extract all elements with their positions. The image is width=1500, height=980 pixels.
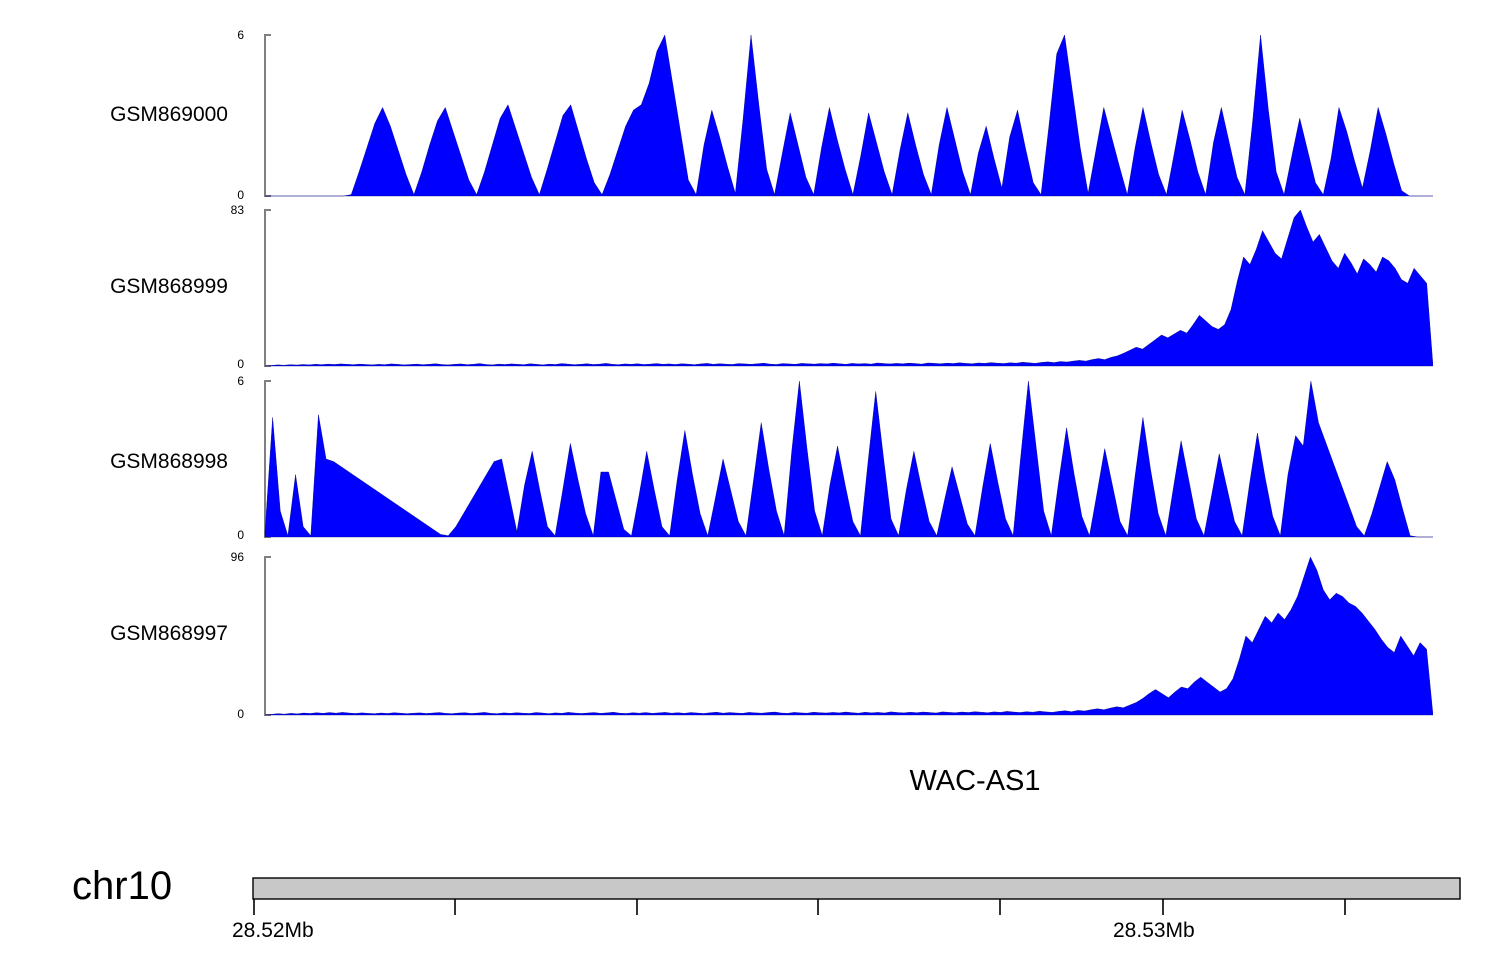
track-0-coverage-area (265, 35, 1433, 196)
track-3-area-group (265, 557, 1433, 715)
genome-browser: GSM869000 6 0 GSM868999 83 0 GSM868998 6… (0, 0, 1500, 980)
track-3-axis-min: 0 (196, 707, 244, 721)
track-0-axis-bracket (265, 35, 271, 196)
track-label-gsm869000: GSM869000 (0, 103, 228, 127)
track-label-gsm868998: GSM868998 (0, 450, 228, 474)
track-2-axis-max: 6 (196, 374, 244, 388)
track-2-coverage-area (265, 381, 1433, 537)
track-1-coverage-area (265, 210, 1433, 366)
track-label-gsm868999: GSM868999 (0, 275, 228, 299)
track-1-plot[interactable] (253, 205, 1433, 373)
ruler-tick-label-left: 28.52Mb (232, 919, 314, 943)
ruler-bar (253, 878, 1460, 899)
track-0-axis-max: 6 (196, 28, 244, 42)
ruler-ticks (254, 899, 1345, 915)
track-3-axis-bracket (265, 557, 271, 715)
chromosome-ruler[interactable] (0, 870, 1500, 920)
track-3-axis-max: 96 (196, 550, 244, 564)
track-3-coverage-area (265, 557, 1433, 715)
track-0-plot[interactable] (253, 30, 1433, 202)
gene-annotation-track[interactable] (0, 806, 1500, 864)
ruler-tick-label-right: 28.53Mb (1113, 919, 1195, 943)
track-2-area-group (265, 381, 1433, 537)
track-0-axis-min: 0 (196, 188, 244, 202)
track-2-axis-min: 0 (196, 528, 244, 542)
track-1-axis-min: 0 (196, 357, 244, 371)
track-3-plot[interactable] (253, 552, 1433, 722)
track-0-area-group (265, 35, 1433, 196)
track-1-area-group (265, 210, 1433, 366)
track-1-axis-bracket (265, 210, 271, 366)
track-1-axis-max: 83 (196, 203, 244, 217)
track-2-plot[interactable] (253, 376, 1433, 544)
gene-name-label: WAC-AS1 (780, 765, 1170, 798)
track-label-gsm868997: GSM868997 (0, 622, 228, 646)
